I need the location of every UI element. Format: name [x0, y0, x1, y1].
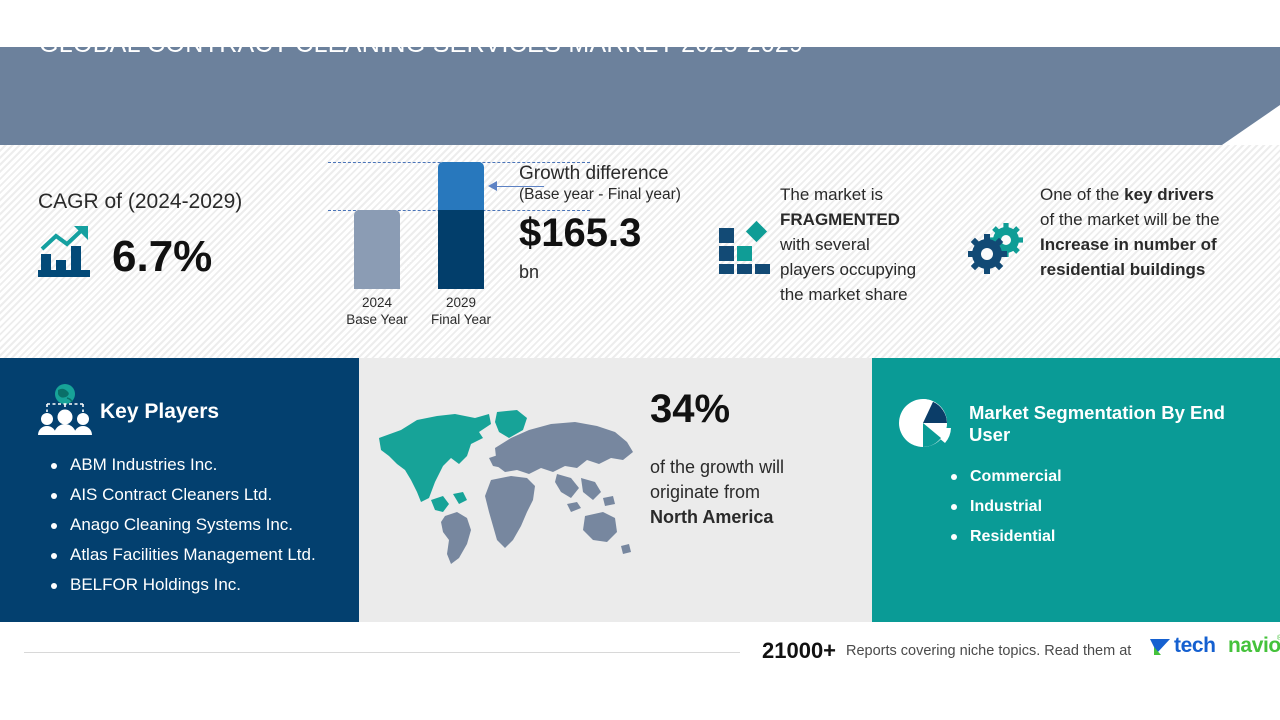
drivers-line1-emphasis: key drivers	[1124, 185, 1214, 204]
header-banner	[0, 47, 1280, 145]
drivers-emphasis-block: Increase in number of residential buildi…	[1040, 235, 1217, 279]
infographic-root: GLOBAL CONTRACT CLEANING SERVICES MARKET…	[0, 0, 1280, 720]
page-title: GLOBAL CONTRACT CLEANING SERVICES MARKET…	[39, 30, 803, 59]
region-text: of the growth will originate from North …	[650, 455, 850, 530]
list-item: Atlas Facilities Management Ltd.	[46, 540, 356, 570]
technavio-logo[interactable]: tech navio ®	[1150, 634, 1280, 662]
bar-label-2029: 2029 Final Year	[406, 294, 516, 328]
fragmented-line1: The market is	[780, 185, 883, 204]
technavio-tech-text: tech	[1174, 634, 1216, 658]
list-item: Industrial	[945, 492, 1195, 522]
growth-difference-unit: bn	[519, 262, 539, 283]
footer-tagline: Reports covering niche topics. Read them…	[846, 643, 1131, 659]
world-map	[371, 408, 639, 570]
fragmented-line3: players occupying	[780, 260, 916, 279]
footer-divider	[24, 652, 740, 653]
list-item: Commercial	[945, 462, 1195, 492]
fragmented-emphasis: FRAGMENTED	[780, 210, 900, 229]
fragmented-line2: with several	[780, 235, 870, 254]
bar-2029-base	[438, 210, 484, 289]
map-region-south-america	[441, 512, 471, 564]
squares-fragmented-icon	[718, 218, 774, 274]
bar-label-2024-sub: Base Year	[346, 312, 408, 327]
region-text-emphasis: North America	[650, 507, 773, 527]
globe-people-icon	[33, 384, 97, 442]
region-percent: 34%	[650, 387, 730, 432]
list-item: Anago Cleaning Systems Inc.	[46, 510, 356, 540]
technavio-navio-text: navio	[1228, 634, 1280, 658]
region-text-line2: originate from	[650, 482, 760, 502]
list-item: ABM Industries Inc.	[46, 450, 356, 480]
growth-bar-chart: 2024 Base Year 2029 Final Year	[328, 152, 518, 322]
technavio-mark-icon	[1150, 637, 1172, 657]
bar-label-2029-year: 2029	[446, 295, 476, 310]
growth-difference-title: Growth difference	[519, 163, 669, 185]
drivers-line1-prefix: One of the	[1040, 185, 1124, 204]
growth-difference-subtitle: (Base year - Final year)	[519, 186, 681, 204]
list-item: AIS Contract Cleaners Ltd.	[46, 480, 356, 510]
bar-chart-growth-icon	[36, 224, 94, 282]
map-region-africa	[485, 476, 535, 548]
key-players-title: Key Players	[100, 400, 219, 424]
bar-2024	[354, 210, 400, 289]
footer-report-count: 21000+	[762, 638, 836, 664]
drivers-line2: of the market will be the	[1040, 210, 1220, 229]
bar-label-2024-year: 2024	[362, 295, 392, 310]
list-item: Residential	[945, 522, 1195, 552]
map-region-north-america	[379, 414, 491, 512]
fragmented-text: The market is FRAGMENTED with several pl…	[780, 182, 948, 307]
region-text-line1: of the growth will	[650, 457, 784, 477]
fragmented-line4: the market share	[780, 285, 908, 304]
key-drivers-text: One of the key drivers of the market wil…	[1040, 182, 1255, 282]
list-item: BELFOR Holdings Inc.	[46, 570, 356, 600]
gears-icon	[968, 222, 1030, 274]
cagr-label: CAGR of (2024-2029)	[38, 190, 242, 214]
bar-2029-growth	[438, 162, 484, 210]
pie-chart-icon	[897, 397, 952, 452]
cagr-value: 6.7%	[112, 232, 212, 282]
bar-label-2029-sub: Final Year	[431, 312, 491, 327]
annotation-arrow-head	[488, 181, 497, 191]
map-region-australia	[583, 512, 631, 554]
segmentation-list: Commercial Industrial Residential	[945, 462, 1195, 552]
segmentation-title: Market Segmentation By End User	[969, 402, 1229, 446]
growth-difference-value: $165.3	[519, 211, 641, 256]
key-players-list: ABM Industries Inc. AIS Contract Cleaner…	[46, 450, 356, 600]
